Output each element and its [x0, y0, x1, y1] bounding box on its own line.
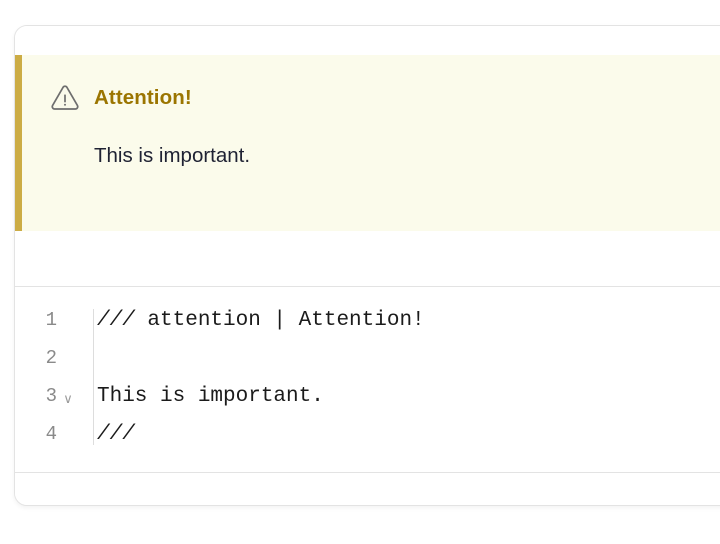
source-code-pane[interactable]: 1 /// attention | Attention! 2 — [15, 287, 720, 467]
code-line-row[interactable]: 3 ∨ This is important. — [15, 377, 720, 415]
callout-title-row: Attention! — [50, 83, 720, 113]
chevron-down-icon[interactable]: ∨ — [63, 392, 73, 405]
code-line-text[interactable]: /// attention | Attention! — [79, 310, 720, 331]
code-line-row[interactable]: 1 /// attention | Attention! — [15, 301, 720, 339]
card-footer-space — [15, 473, 720, 506]
callout-title: Attention! — [94, 88, 192, 109]
fold-slot[interactable]: ∨ — [57, 390, 79, 403]
code-gutter: 2 — [15, 349, 79, 368]
code-fence-token: /// — [97, 423, 135, 446]
line-number: 2 — [31, 349, 57, 368]
code-line-text[interactable]: /// — [79, 424, 720, 445]
attention-callout: Attention! This is important. — [15, 55, 720, 231]
code-line-row[interactable]: 4 /// — [15, 415, 720, 453]
code-line-text[interactable]: This is important. — [79, 386, 720, 407]
line-number: 3 — [31, 387, 57, 406]
page-root: Attention! This is important. 1 /// atte… — [0, 0, 720, 544]
callout-body-text: This is important. — [50, 143, 720, 170]
warning-triangle-icon — [50, 83, 80, 113]
line-number: 4 — [31, 425, 57, 444]
code-line-rest: attention | Attention! — [135, 309, 425, 332]
code-line-rest: This is important. — [97, 385, 324, 408]
code-gutter: 3 ∨ — [15, 387, 79, 406]
document-card: Attention! This is important. 1 /// atte… — [14, 25, 720, 506]
preview-pane: Attention! This is important. — [15, 26, 720, 286]
code-gutter: 4 — [15, 425, 79, 444]
line-number: 1 — [31, 311, 57, 330]
code-fence-token: /// — [97, 309, 135, 332]
code-line-list: 1 /// attention | Attention! 2 — [15, 301, 720, 453]
code-line-row[interactable]: 2 — [15, 339, 720, 377]
code-gutter: 1 — [15, 311, 79, 330]
